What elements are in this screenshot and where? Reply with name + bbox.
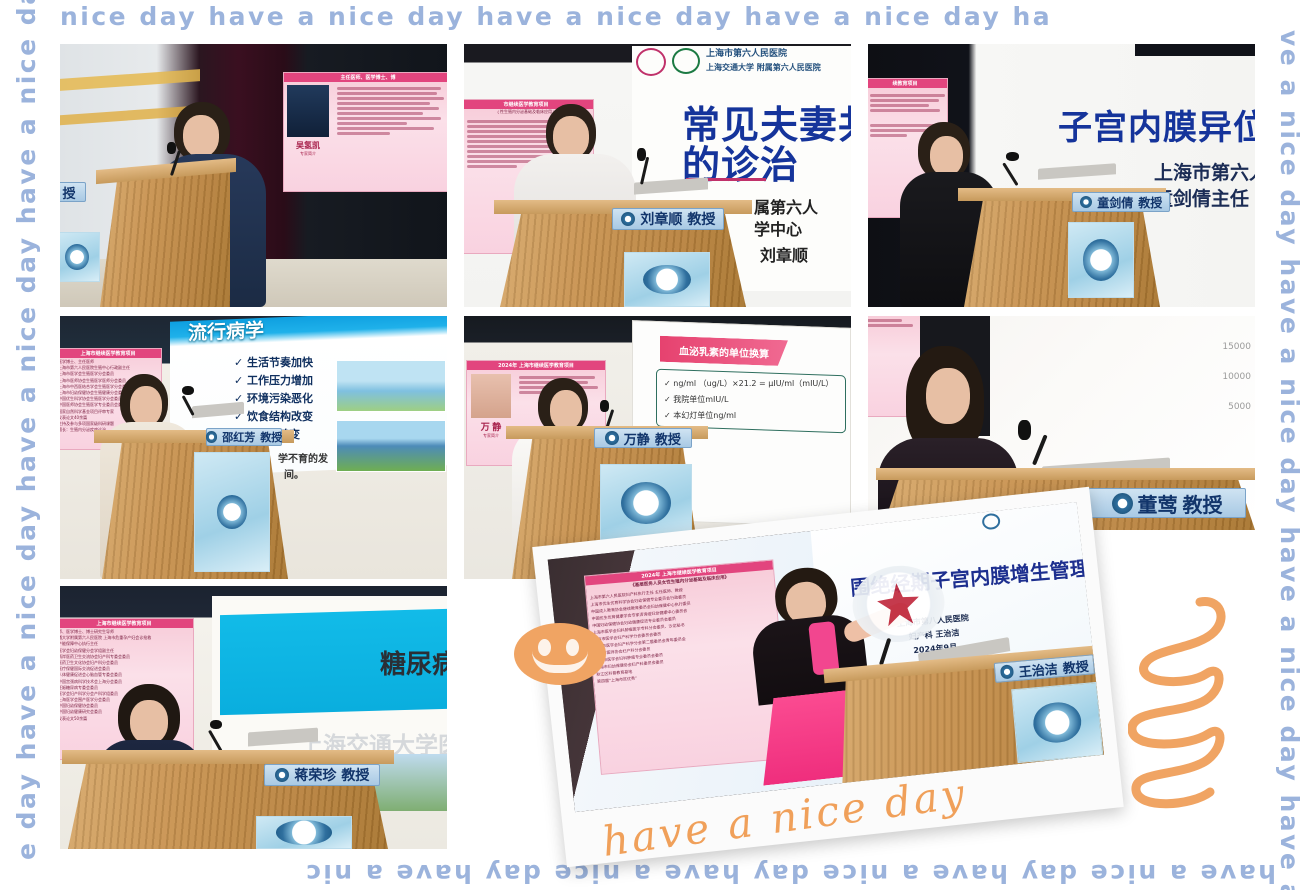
photo-2-podium-emblem: [624, 252, 710, 307]
collage-canvas: nice day have a nice day have a nice day…: [0, 0, 1316, 890]
photo-4-podium-emblem: [194, 452, 270, 572]
photo-6-axis-label-0: 15000: [1222, 332, 1251, 362]
photo-3-mic-head: [1006, 152, 1019, 161]
photo-6-axis-label-2: 5000: [1222, 392, 1251, 422]
photo-7-mic-head: [210, 720, 222, 729]
photo-4-slide-image-hospital-top: [336, 360, 446, 412]
photo-5-bullet-2: ✓ 本幻灯单位ng/ml: [664, 410, 736, 421]
photo-6-axis-label-1: 10000: [1222, 362, 1251, 392]
photo-7-speaker-title: 教授: [341, 765, 369, 785]
photo-1-nameplate-text: 授: [62, 183, 75, 202]
photo-7[interactable]: 糖尿病 上海交通大学医 上海市继续医学教育项目 师、医学博士、博士研究生导师 通…: [60, 586, 447, 849]
photo-3-speaker-title: 教授: [1138, 194, 1162, 211]
photo-5-profile-name: 万 静: [471, 420, 511, 433]
photo-5-bullet-0: ✓ ng/ml （ug/L）×21.2 = μIU/ml（mIU/L）: [664, 378, 833, 389]
photo-2-slide-org2: 学中心: [754, 216, 802, 240]
photo-5-bullet-1: ✓ 我院单位mIU/L: [664, 394, 728, 405]
photo-4[interactable]: 流行病学 ✓ 生活节奏加快 ✓ 工作压力增加 ✓ 环境污染恶化 ✓ 饮食结构改变…: [60, 316, 447, 579]
polaroid-photo[interactable]: 2024年 上海市继续医学教育项目 《基层医务人员女性生殖内分泌基础及临床应用》…: [532, 487, 1124, 868]
photo-2-logo-left-icon: [636, 48, 666, 76]
photo-2-speaker-name: 刘章顺: [640, 209, 682, 229]
photo-6-mic-head: [1018, 420, 1031, 440]
spring-coil-icon: [1128, 588, 1268, 828]
photo-5-slide-banner: 血泌乳素的单位换算: [660, 336, 788, 366]
photo-5-slide-title: 血泌乳素的单位换算: [679, 342, 769, 360]
photo-4-bullet-1: ✓ 工作压力增加: [234, 372, 313, 388]
photo-3-slide-org: 上海市第六人: [1154, 158, 1255, 185]
photo-4-slide-footer-1: 学不育的发: [278, 450, 328, 465]
photo-4-nameplate-badge-icon: [206, 431, 218, 443]
photo-3-slide-title: 子宫内膜异位症发: [1058, 100, 1255, 149]
photo-5-nameplate: 万静 教授: [594, 428, 692, 448]
polaroid-nameplate-badge-icon: [1000, 664, 1015, 679]
photo-3-nameplate: 童剑倩 教授: [1072, 192, 1170, 212]
photo-6-chart-axis: 15000 10000 5000: [1222, 332, 1251, 422]
border-text-top: nice day have a nice day have a nice day…: [0, 2, 1316, 38]
photo-2-mic-head: [637, 148, 646, 161]
photo-2-speaker-title: 教授: [687, 209, 715, 229]
photo-3-top-band: [1135, 44, 1255, 56]
photo-4-profile-header: 上海市继续医学教育项目: [60, 349, 161, 358]
polaroid-podium-emblem: [1011, 682, 1103, 763]
photo-6-nameplate: 董莺 教授: [1088, 488, 1246, 518]
photo-2-slide-presenter: 刘章顺: [760, 242, 808, 266]
smiley-mouth: [532, 651, 588, 673]
polaroid-image: 2024年 上海市继续医学教育项目 《基层医务人员女性生殖内分泌基础及临床应用》…: [548, 502, 1104, 812]
photo-4-slide-title: 流行病学: [188, 316, 264, 346]
photo-1-mic-head: [167, 142, 176, 154]
photo-2-slide-header: 上海市第六人民医院 上海交通大学 附属第六人民医院: [706, 48, 821, 74]
photo-6-speaker-name: 董莺: [1138, 489, 1178, 518]
photo-2-logo-right-icon: [672, 48, 700, 74]
photo-2-slide-org1: 属第六人: [754, 194, 818, 218]
photo-4-speaker-title: 教授: [260, 429, 282, 445]
photo-4-bullet-3: ✓ 饮食结构改变: [234, 408, 313, 424]
polaroid-speaker-name: 王治洁: [1018, 658, 1059, 680]
polaroid-speaker-title: 教授: [1062, 655, 1090, 676]
photo-1-profile-name: 吴氢凯: [287, 140, 329, 151]
photo-3-nameplate-badge-icon: [1080, 196, 1093, 209]
photo-1-podium: [100, 172, 230, 307]
photo-3[interactable]: 续教育项目 子宫内膜异位症发 上海市第六人 童剑倩主任 童剑倩 教授: [868, 44, 1255, 307]
photo-7-speaker-name: 蒋荣珍: [294, 765, 336, 785]
border-text-right: ve a nice day have a nice day have a nic…: [1268, 0, 1304, 890]
photo-5-mic-head: [600, 400, 609, 412]
photo-6-speaker-title: 教授: [1183, 489, 1223, 518]
smiley-face-icon: [514, 623, 606, 685]
photo-3-podium-emblem: [1068, 222, 1134, 298]
photo-5-profile-role: 专家简介: [471, 433, 511, 439]
photo-4-slide-image-hospital-bottom: [336, 420, 446, 472]
photo-5-nameplate-badge-icon: [605, 431, 619, 445]
photo-4-mic-head: [182, 386, 194, 395]
photo-5-profile-header-1: 2024年 上海市继续医学教育项目: [467, 361, 605, 370]
photo-4-speaker-name: 邵红芳: [222, 429, 255, 445]
photo-7-nameplate-badge-icon: [275, 768, 290, 783]
photo-7-slide-title: 糖尿病: [380, 644, 447, 681]
photo-3-profile-header: 续教育项目: [868, 79, 947, 88]
photo-1-nameplate: 授: [60, 182, 86, 202]
photo-7-profile-header: 上海市继续医学教育项目: [60, 619, 193, 628]
photo-1[interactable]: 主任医师、医学博士、博 吴氢凯 专家简介: [60, 44, 447, 307]
photo-1-profile-role: 专家简介: [287, 151, 329, 157]
photo-3-speaker-name: 童剑倩: [1097, 194, 1133, 211]
photo-2-nameplate-badge-icon: [621, 212, 636, 227]
photo-4-bullet-2: ✓ 环境污染恶化: [234, 390, 313, 406]
photo-5-speaker-title: 教授: [655, 429, 681, 448]
photo-1-podium-emblem: [60, 232, 100, 282]
photo-4-nameplate: 邵红芳 教授: [206, 428, 282, 446]
border-text-left: e day have a nice day have a nice day ha…: [12, 0, 48, 890]
photo-4-bullet-0: ✓ 生活节奏加快: [234, 354, 313, 370]
photo-6-nameplate-badge-icon: [1112, 493, 1133, 514]
photo-7-podium-top: [62, 750, 394, 764]
photo-7-nameplate: 蒋荣珍 教授: [264, 764, 380, 786]
photo-5-speaker-name: 万静: [624, 429, 650, 448]
photo-2-nameplate: 刘章顺 教授: [612, 208, 724, 230]
photo-6-podium-top: [876, 468, 1255, 480]
photo-1-profile-header: 主任医师、医学博士、博: [284, 73, 447, 82]
photo-4-slide-footer-2: 间。: [284, 466, 304, 481]
photo-2[interactable]: 上海市第六人民医院 上海交通大学 附属第六人民医院 常见夫妻共 的诊治 属第六人…: [464, 44, 851, 307]
photo-7-podium-emblem: [256, 816, 352, 849]
photo-1-profile-slide: 主任医师、医学博士、博 吴氢凯 专家简介: [283, 72, 447, 192]
